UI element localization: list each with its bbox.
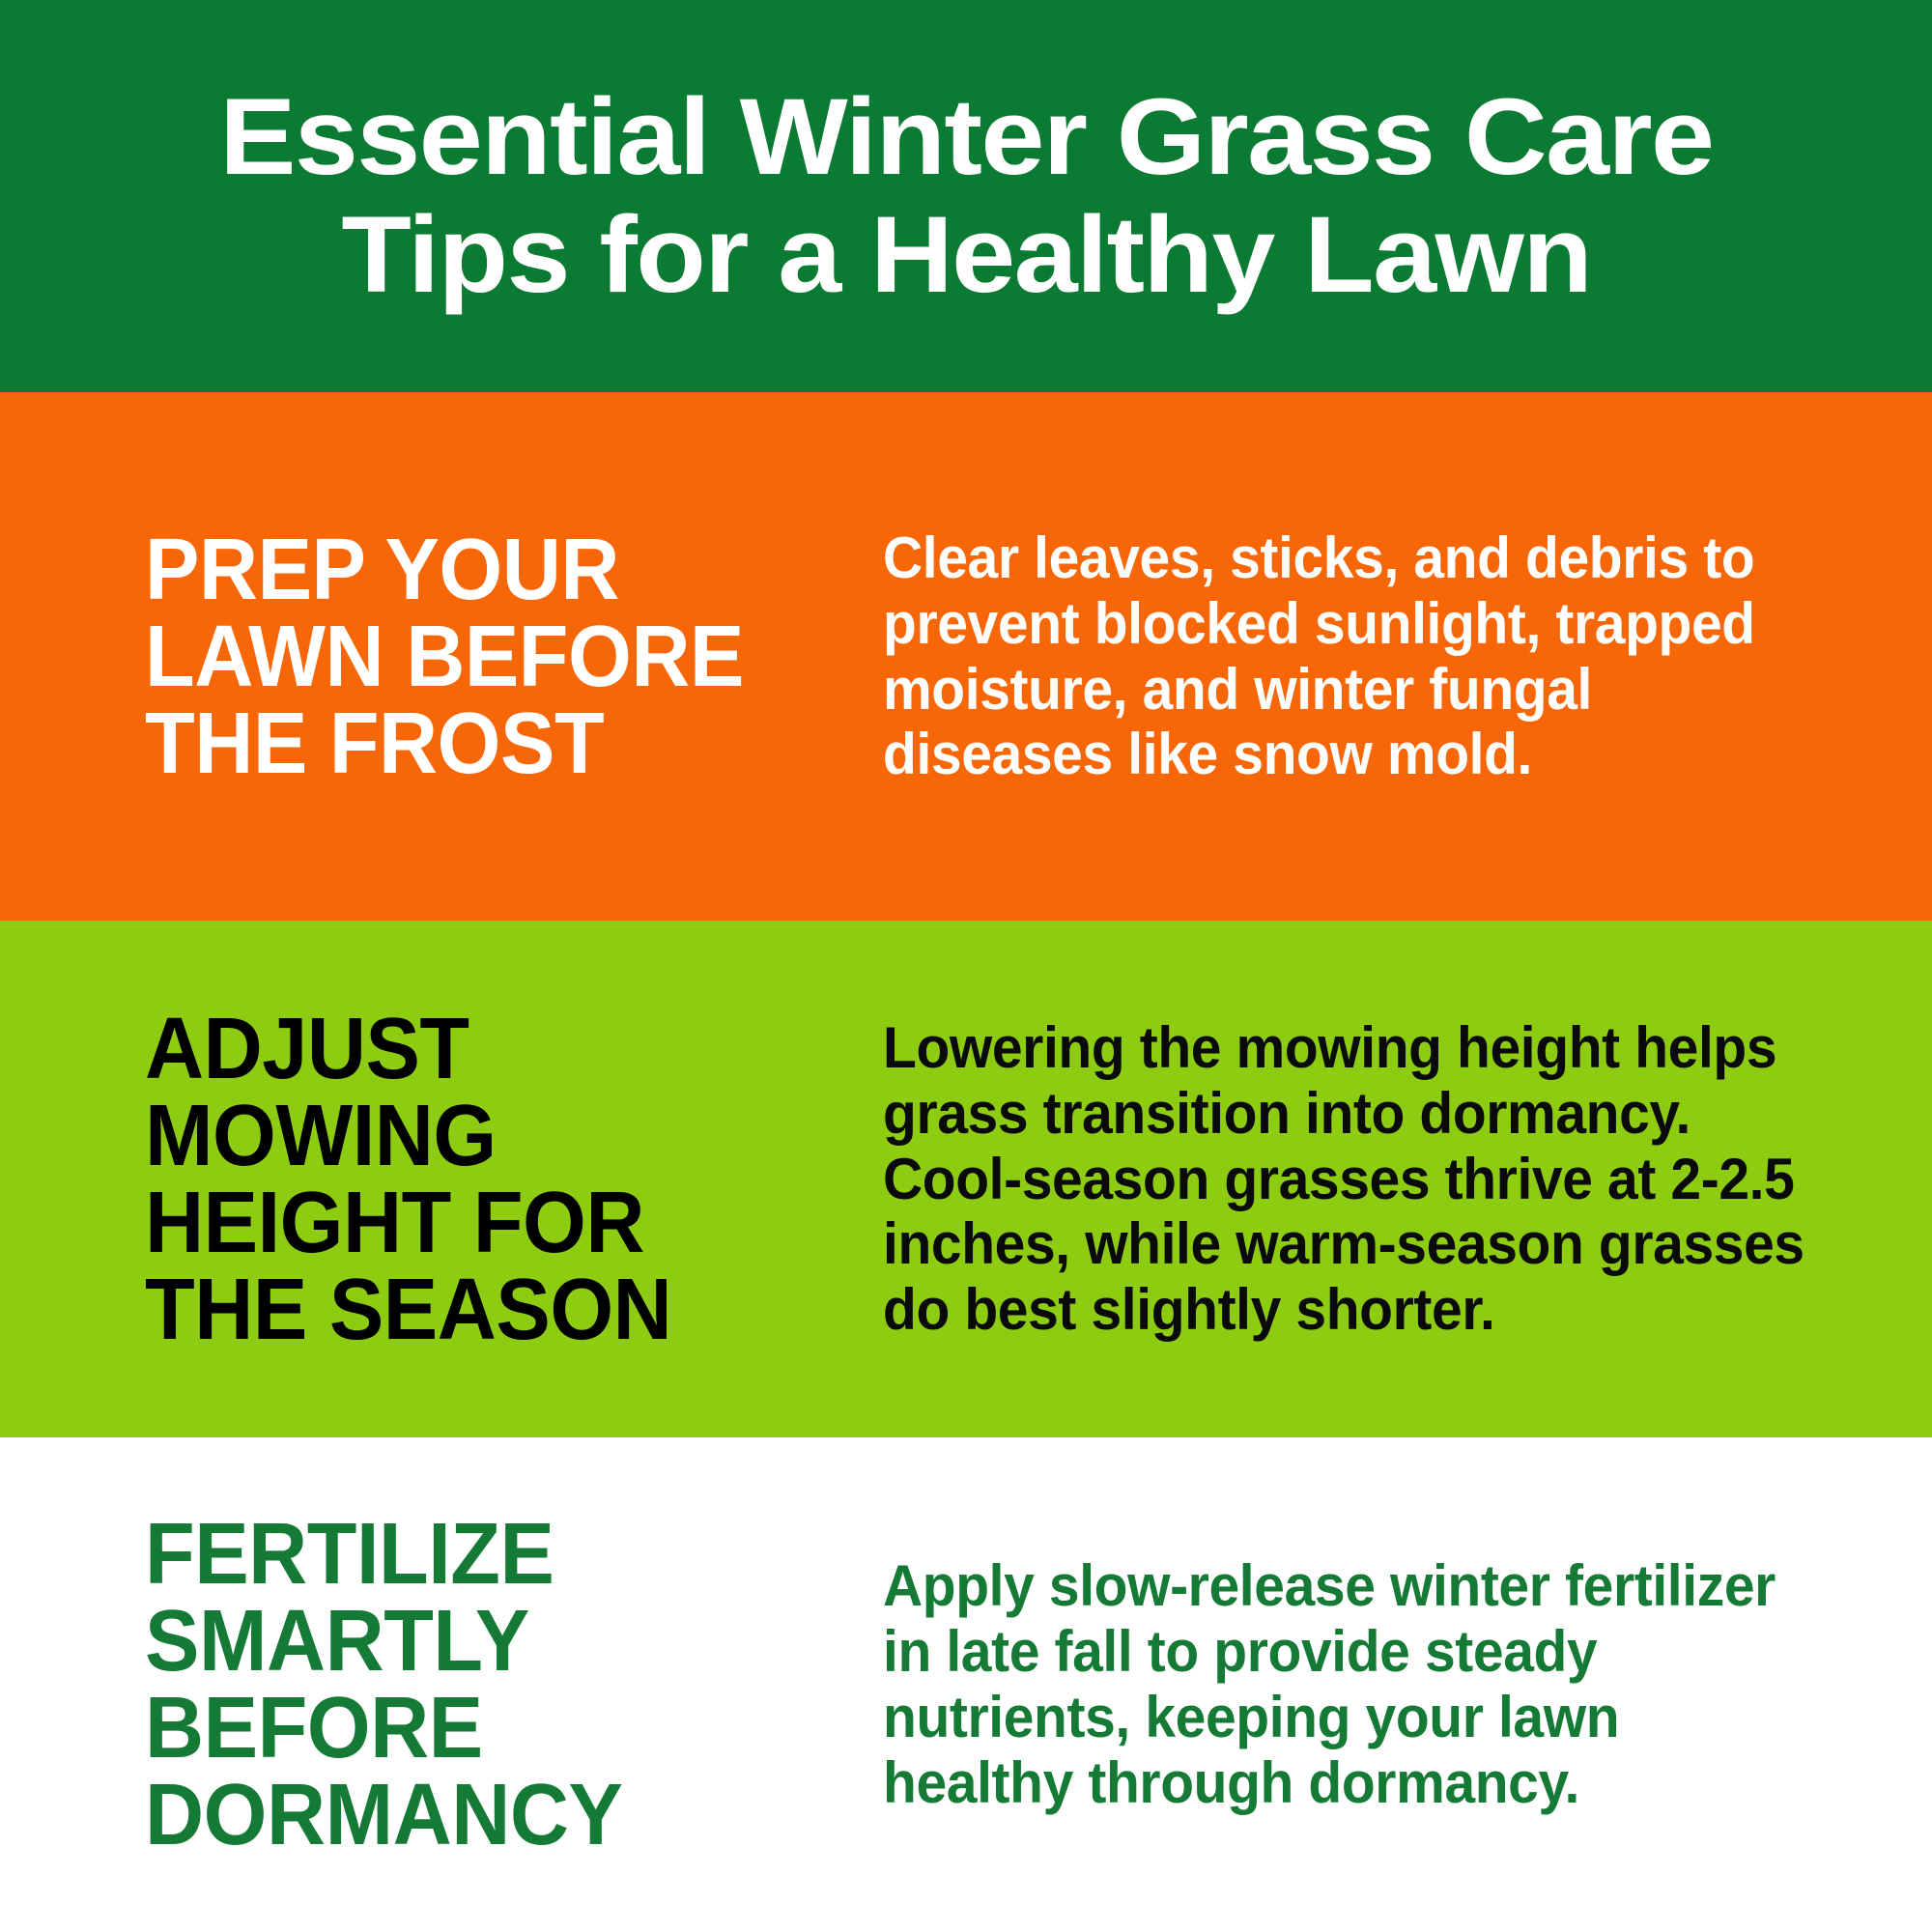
tip-heading-prep-lawn-before-frost: PREP YOUR LAWN BEFORE THE FROST <box>145 526 821 787</box>
infographic-poster: Essential Winter Grass Care Tips for a H… <box>0 0 1932 1932</box>
tip-body-adjust-mowing-height: Lowering the mowing height helps grass t… <box>865 1015 1814 1343</box>
tip-section-fertilize-smartly: FERTILIZE SMARTLY BEFORE DORMANCY Apply … <box>0 1437 1932 1932</box>
page-title-line-1: Essential Winter Grass Care <box>219 81 1713 193</box>
header-band: Essential Winter Grass Care Tips for a H… <box>0 0 1932 392</box>
tip-body-fertilize-smartly: Apply slow-release winter fertilizer in … <box>865 1553 1814 1815</box>
tip-section-prep-lawn-before-frost: PREP YOUR LAWN BEFORE THE FROST Clear le… <box>0 392 1932 921</box>
tip-heading-fertilize-smartly: FERTILIZE SMARTLY BEFORE DORMANCY <box>145 1511 821 1859</box>
page-title-line-2: Tips for a Healthy Lawn <box>341 199 1591 311</box>
tip-body-prep-lawn-before-frost: Clear leaves, sticks, and debris to prev… <box>865 526 1814 787</box>
tip-section-adjust-mowing-height: ADJUST MOWING HEIGHT FOR THE SEASON Lowe… <box>0 921 1932 1437</box>
tip-heading-adjust-mowing-height: ADJUST MOWING HEIGHT FOR THE SEASON <box>145 1006 821 1353</box>
